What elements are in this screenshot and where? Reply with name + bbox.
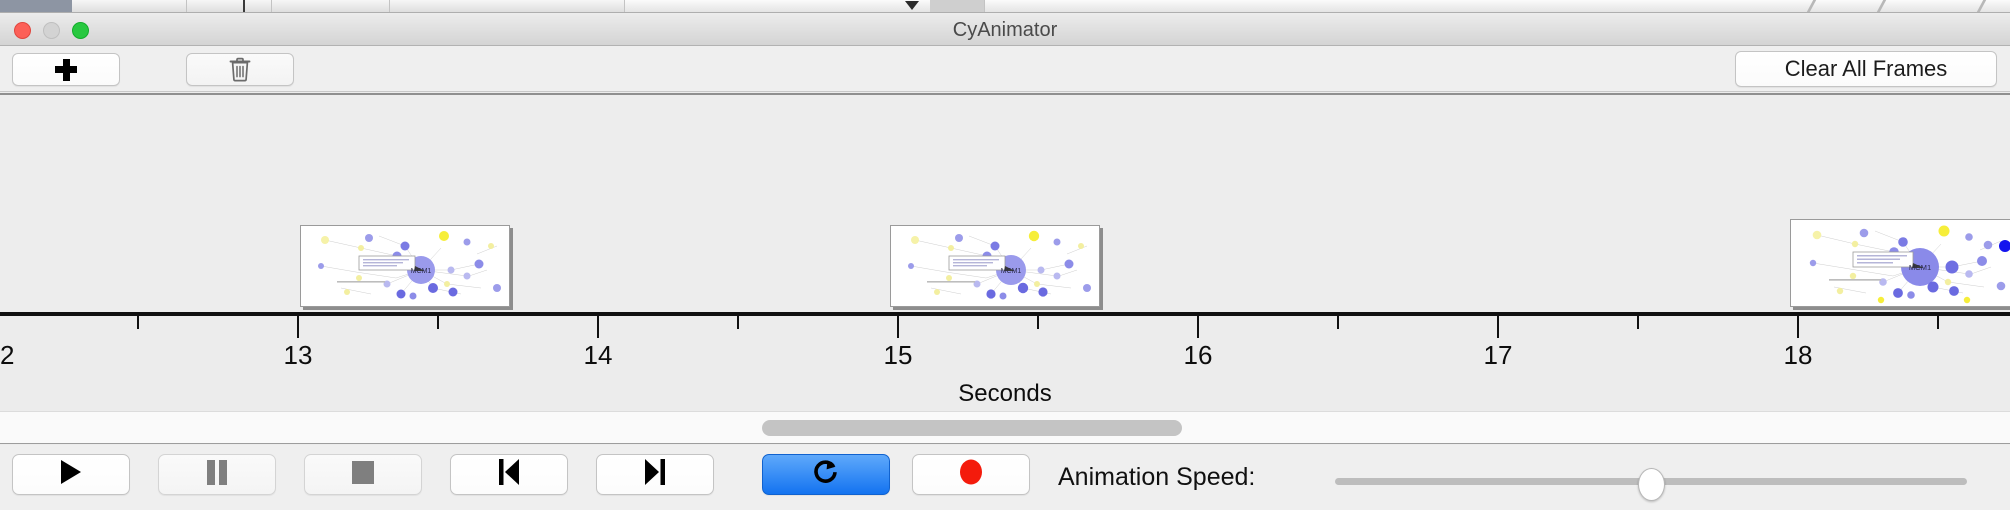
ruler-tick-minor — [1937, 316, 1939, 329]
background-window-sidebar — [0, 0, 72, 12]
ruler-label: 17 — [1484, 340, 1513, 371]
clear-all-frames-button[interactable]: Clear All Frames — [1735, 51, 1997, 87]
ruler-tick-minor — [1637, 316, 1639, 329]
loop-button[interactable] — [762, 454, 890, 495]
background-window-segment — [272, 0, 390, 13]
stop-icon — [351, 460, 375, 490]
animation-speed-label: Animation Speed: — [1058, 463, 1255, 492]
ruler-baseline — [0, 312, 2010, 316]
frame-thumbnail[interactable]: MCM1 — [1790, 219, 2010, 307]
background-window-slash — [1977, 0, 1997, 12]
ruler-tick-major — [297, 316, 299, 338]
frame-thumbnail[interactable]: MCM1 — [890, 225, 1100, 307]
svg-text:MCM1: MCM1 — [411, 268, 432, 275]
timeline-panel[interactable]: MCM1 — [0, 93, 2010, 312]
record-icon — [958, 458, 984, 491]
ruler-label: 12 — [0, 340, 14, 371]
skip-to-start-button[interactable] — [450, 454, 568, 495]
clear-all-frames-label: Clear All Frames — [1785, 56, 1948, 82]
play-button[interactable] — [12, 454, 130, 495]
cyanimator-window: Shape CyAnimator — [0, 0, 2010, 510]
background-window-slash — [1877, 0, 1897, 12]
ruler-tick-major — [597, 316, 599, 338]
ruler-tick-minor — [137, 316, 139, 329]
plus-icon — [55, 59, 77, 81]
background-window-tick — [243, 0, 245, 12]
ruler-label: 14 — [584, 340, 613, 371]
background-window-segment — [187, 0, 272, 13]
pause-button[interactable] — [158, 454, 276, 495]
ruler-tick-minor — [1037, 316, 1039, 329]
skip-to-end-button[interactable] — [596, 454, 714, 495]
ruler-label: 15 — [884, 340, 913, 371]
background-window-segment — [930, 0, 985, 13]
ruler-label: 16 — [1184, 340, 1213, 371]
ruler-tick-major — [1797, 316, 1799, 338]
ruler-tick-major — [1197, 316, 1199, 338]
background-window-arrow-icon — [905, 1, 919, 10]
background-window-segment — [72, 0, 187, 13]
ruler-label: 18 — [1784, 340, 1813, 371]
add-frame-button[interactable] — [12, 53, 120, 86]
stop-button[interactable] — [304, 454, 422, 495]
ruler-axis-title: Seconds — [0, 380, 2010, 408]
ruler-tick-minor — [737, 316, 739, 329]
window-title: CyAnimator — [0, 19, 2010, 42]
svg-text:MCM1: MCM1 — [1001, 268, 1022, 275]
skip-previous-icon — [497, 458, 521, 491]
timeline-ruler[interactable]: 12 13 14 15 16 17 18 Seconds — [0, 312, 2010, 410]
svg-text:MCM1: MCM1 — [1909, 263, 1931, 272]
record-button[interactable] — [912, 454, 1030, 495]
trash-icon — [229, 57, 251, 82]
loop-icon — [811, 457, 841, 492]
background-window-segment — [390, 0, 625, 13]
ruler-tick-minor — [437, 316, 439, 329]
horizontal-scrollbar[interactable] — [0, 411, 2010, 444]
ruler-tick-major — [897, 316, 899, 338]
ruler-tick-minor — [1337, 316, 1339, 329]
background-window-strip: Shape — [0, 0, 2010, 13]
toolbar: Clear All Frames — [0, 46, 2010, 92]
scrollbar-thumb[interactable] — [762, 420, 1182, 436]
background-window-slash — [1807, 0, 1827, 12]
title-bar: CyAnimator — [0, 13, 2010, 46]
animation-speed-slider-thumb[interactable] — [1638, 468, 1665, 501]
delete-frame-button[interactable] — [186, 53, 294, 86]
play-icon — [58, 458, 84, 491]
ruler-tick-major — [1497, 316, 1499, 338]
ruler-label: 13 — [284, 340, 313, 371]
skip-next-icon — [643, 458, 667, 491]
frame-thumbnail[interactable]: MCM1 — [300, 225, 510, 307]
pause-icon — [205, 459, 229, 491]
